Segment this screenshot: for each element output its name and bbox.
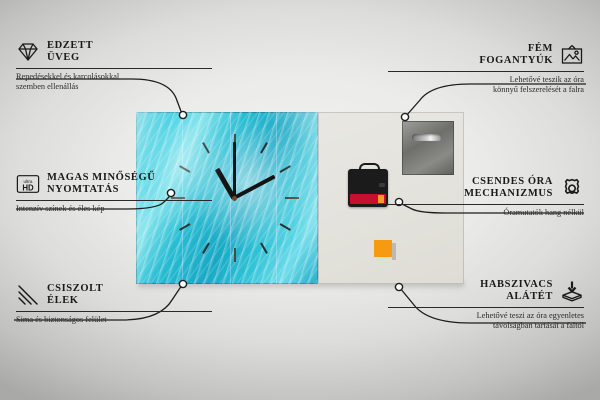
callout-divider bbox=[388, 204, 584, 205]
callout-tempered-glass: EDZETT ÜVEG Repedésekkel és karcolásokka… bbox=[16, 40, 212, 93]
mechanism-label bbox=[350, 194, 386, 204]
callout-description-line2: könnyű felszerelését a falra bbox=[388, 85, 584, 96]
dial-tick bbox=[202, 142, 210, 153]
callout-description-line1: Sima és biztonságos felület bbox=[16, 315, 212, 326]
callout-title: MAGAS MINŐSÉGŰ NYOMTATÁS bbox=[47, 172, 155, 197]
dial-tick bbox=[280, 165, 291, 173]
quartz-clock-mechanism bbox=[348, 169, 388, 207]
dial-tick bbox=[234, 248, 236, 262]
svg-text:HD: HD bbox=[22, 184, 34, 193]
dial-tick bbox=[179, 223, 190, 231]
mechanism-notch bbox=[379, 183, 385, 187]
metal-hanger-bracket bbox=[402, 121, 454, 175]
polished-edge-lines-icon bbox=[16, 284, 40, 306]
dial-tick bbox=[285, 197, 299, 199]
callout-header: EDZETT ÜVEG bbox=[16, 40, 212, 65]
dial-tick bbox=[234, 134, 236, 148]
dial-tick bbox=[260, 243, 268, 254]
callout-divider bbox=[16, 68, 212, 69]
mechanism-hook bbox=[359, 163, 380, 174]
clock-second-hand bbox=[233, 142, 236, 200]
clock-hand-cap bbox=[232, 196, 237, 201]
clock-minute-hand bbox=[233, 175, 275, 200]
glass-seam bbox=[230, 112, 231, 284]
callout-description-line2: távolságban tartását a faltól bbox=[388, 321, 584, 332]
glass-seam bbox=[276, 112, 277, 284]
callout-description-line1: Repedésekkel és karcolásokkal bbox=[16, 72, 212, 83]
callout-description-line2: szemben ellenállás bbox=[16, 82, 212, 93]
callout-header: CSENDES ÓRA MECHANIZMUS bbox=[388, 176, 584, 201]
callout-description-line1: Lehetővé teszik az óra bbox=[388, 75, 584, 86]
callout-divider bbox=[388, 71, 584, 72]
callout-title: HABSZIVACS ALÁTÉT bbox=[480, 279, 553, 304]
dial-tick bbox=[280, 223, 291, 231]
callout-title: FÉM FOGANTYÚK bbox=[479, 43, 553, 68]
diamond-gem-icon bbox=[16, 41, 40, 63]
callout-foam-pad: HABSZIVACS ALÁTÉT Lehetővé teszi az óra … bbox=[388, 279, 584, 332]
callout-hd-print: ultra HD MAGAS MINŐSÉGŰ NYOMTATÁS Intenz… bbox=[16, 172, 212, 214]
callout-title: CSISZOLT ÉLEK bbox=[47, 283, 103, 308]
callout-divider bbox=[388, 307, 584, 308]
callout-header: FÉM FOGANTYÚK bbox=[388, 43, 584, 68]
callout-silent-mechanism: CSENDES ÓRA MECHANIZMUS Óramutatók hang … bbox=[388, 176, 584, 218]
callout-header: CSISZOLT ÉLEK bbox=[16, 283, 212, 308]
callout-title: CSENDES ÓRA MECHANIZMUS bbox=[464, 176, 553, 201]
gear-icon bbox=[560, 177, 584, 199]
callout-header: ultra HD MAGAS MINŐSÉGŰ NYOMTATÁS bbox=[16, 172, 212, 197]
foam-spacer-pad bbox=[374, 240, 392, 257]
press-pad-arrow-icon bbox=[560, 280, 584, 302]
callout-description-line1: Lehetővé teszi az óra egyenletes bbox=[388, 311, 584, 322]
dial-tick bbox=[202, 243, 210, 254]
callout-title: EDZETT ÜVEG bbox=[47, 40, 93, 65]
callout-description-line1: Óramutatók hang nélkül bbox=[388, 208, 584, 219]
callout-polished-edges: CSISZOLT ÉLEK Sima és biztonságos felüle… bbox=[16, 283, 212, 325]
dial-tick bbox=[260, 142, 268, 153]
callout-metal-handles: FÉM FOGANTYÚK Lehetővé teszik az óra kön… bbox=[388, 43, 584, 96]
callout-header: HABSZIVACS ALÁTÉT bbox=[388, 279, 584, 304]
clock-hour-hand bbox=[215, 167, 236, 199]
infographic-canvas: EDZETT ÜVEG Repedésekkel és karcolásokka… bbox=[0, 0, 600, 400]
ultra-hd-badge-icon: ultra HD bbox=[16, 173, 40, 195]
picture-hanger-frame-icon bbox=[560, 44, 584, 66]
callout-divider bbox=[16, 311, 212, 312]
callout-divider bbox=[16, 200, 212, 201]
hanger-slot bbox=[412, 134, 442, 141]
callout-description-line1: Intenzív színek és éles kép bbox=[16, 204, 212, 215]
